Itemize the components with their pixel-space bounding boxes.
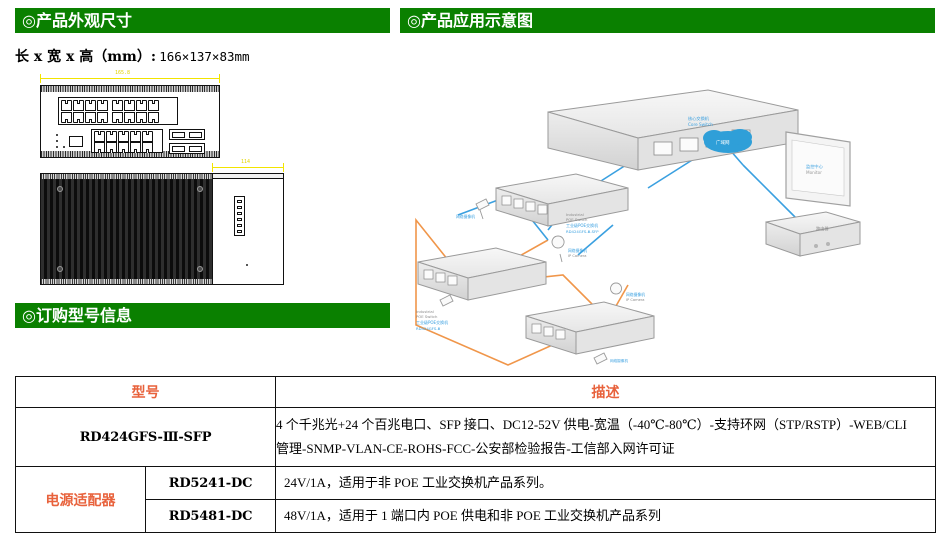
rj45-port	[85, 100, 96, 111]
status-led	[56, 146, 58, 148]
port-row-lower-bottom	[94, 142, 154, 153]
rj45-port	[73, 100, 84, 111]
poe-switch-1-label: 工业级POE交换机	[566, 222, 598, 228]
rj45-port	[112, 100, 123, 111]
cell-description-rd5241dc: 24V/1A，适用于非 POE 工业交换机产品系列。	[276, 467, 936, 500]
monitor-node: 监控中心 Monitor	[786, 132, 850, 206]
table-row: 电源适配器 RD5241-DC 24V/1A，适用于非 POE 工业交换机产品系…	[16, 467, 936, 500]
rj45-port	[136, 100, 147, 111]
dimension-label: 长 x 宽 x 高（mm）:	[15, 49, 156, 65]
status-led	[56, 134, 58, 136]
svg-text:IP Camera: IP Camera	[568, 254, 586, 258]
section-banner-application: ◎产品应用示意图	[400, 8, 935, 33]
rj45-port	[61, 100, 72, 111]
camera-node	[440, 295, 453, 306]
front-panel-top-rail	[41, 86, 219, 92]
dimension-value: 166×137×83mm	[159, 49, 249, 64]
svg-text:POE Switch: POE Switch	[566, 217, 588, 222]
svg-text:网络摄像机: 网络摄像机	[610, 358, 628, 363]
dimension-text-top: 165.8	[115, 70, 130, 76]
rj45-port	[130, 131, 141, 142]
svg-text:IP Camera: IP Camera	[626, 298, 644, 302]
rj45-port	[118, 142, 129, 153]
svg-text:网络摄像机: 网络摄像机	[568, 248, 587, 253]
sideview-marker-dot	[246, 264, 248, 266]
svg-text:Core Switch: Core Switch	[688, 122, 713, 127]
screw	[57, 266, 63, 272]
poe-switch-2-label: 工业级POE交换机	[416, 319, 448, 325]
sfp-cage-upper	[169, 129, 205, 140]
camera-node: 网络摄像机	[594, 353, 628, 364]
camera-node: 网络摄像机 IP Camera	[552, 236, 587, 262]
rj45-port	[142, 142, 153, 153]
description-line: 24V/1A，适用于非 POE 工业交换机产品系列。	[284, 471, 927, 495]
core-switch-label: 核心交换机	[688, 115, 710, 122]
port-row-upper-top	[61, 100, 160, 111]
rj45-port	[148, 112, 159, 123]
rj45-port	[94, 142, 105, 153]
product-drawings: 165.8	[15, 70, 375, 295]
sfp-cage-lower	[169, 143, 205, 154]
router-label: 路由器	[816, 225, 829, 232]
topview-bottom-edge	[41, 279, 219, 284]
rj45-port	[136, 112, 147, 123]
rj45-port	[106, 142, 117, 153]
port-row-upper-bottom	[61, 112, 160, 123]
switch-topview-drawing	[40, 173, 220, 285]
wan-cloud-node: 广域网	[703, 129, 752, 153]
cell-description-rd5481dc: 48V/1A，适用于 1 端口内 POE 供电和非 POE 工业交换机产品系列	[276, 500, 936, 533]
router-node: 路由器	[766, 212, 860, 256]
core-switch-node: 核心交换机 Core Switch	[548, 90, 798, 170]
column-header-model: 型号	[16, 377, 276, 408]
rj45-port	[118, 131, 129, 142]
rj45-port	[124, 100, 135, 111]
dimension-line: 长 x 宽 x 高（mm）: 166×137×83mm	[15, 46, 250, 66]
upper-port-block	[58, 97, 178, 125]
rj45-port	[112, 112, 123, 123]
svg-text:RD424GFS-Ⅲ: RD424GFS-Ⅲ	[416, 326, 441, 331]
status-led	[56, 140, 58, 142]
rj45-port	[130, 142, 141, 153]
cell-model-rd424gfs: RD424GFS-Ⅲ-SFP	[16, 408, 276, 467]
description-line: 管理-SNMP-VLAN-CE-ROHS-FCC-公安部检验报告-工信部入网许可…	[276, 437, 935, 461]
section-banner-dimensions: ◎产品外观尺寸	[15, 8, 390, 33]
rj45-port	[97, 112, 108, 123]
console-port	[69, 136, 83, 147]
cell-group-power-adapter: 电源适配器	[16, 467, 146, 533]
sideview-top-edge	[213, 174, 283, 179]
rj45-port	[97, 100, 108, 111]
column-header-description: 描述	[276, 377, 936, 408]
switch-front-panel-drawing	[40, 85, 220, 158]
cell-model-rd5481dc: RD5481-DC	[146, 500, 276, 533]
dimension-text-side: 114	[241, 159, 250, 165]
monitor-label: 监控中心	[806, 163, 824, 170]
lower-port-block	[91, 129, 163, 153]
svg-text:RD424GFS-Ⅲ-SFP: RD424GFS-Ⅲ-SFP	[566, 229, 599, 234]
rj45-port	[73, 112, 84, 123]
rj45-port	[142, 131, 153, 142]
application-topology-diagram: 核心交换机 Core Switch 广域网 监控中心 Monitor 路由器 I…	[398, 70, 946, 370]
table-row: RD5481-DC 48V/1A，适用于 1 端口内 POE 供电和非 POE …	[16, 500, 936, 533]
dimension-line-side	[212, 167, 284, 168]
dimension-tick-side-left	[212, 163, 213, 172]
rj45-port	[148, 100, 159, 111]
svg-text:网络摄像机: 网络摄像机	[626, 292, 645, 297]
rj45-port	[106, 131, 117, 142]
poe-switch-3-node	[526, 302, 654, 354]
section-banner-ordering: ◎订购型号信息	[15, 303, 390, 328]
port-row-lower-top	[94, 131, 154, 142]
camera-label: 网络摄像机	[456, 214, 475, 219]
topview-top-edge	[41, 174, 219, 179]
screw	[57, 186, 63, 192]
description-line: 4 个千兆光+24 个百兆电口、SFP 接口、DC12-52V 供电-宽温（-4…	[276, 413, 935, 437]
svg-text:POE Switch: POE Switch	[416, 314, 438, 319]
cell-model-rd5241dc: RD5241-DC	[146, 467, 276, 500]
poe-switch-1-node: Industrial POE Switch 工业级POE交换机 RD424GFS…	[496, 174, 628, 234]
table-row: RD424GFS-Ⅲ-SFP 4 个千兆光+24 个百兆电口、SFP 接口、DC…	[16, 408, 936, 467]
dimension-line-top	[40, 78, 220, 79]
terminal-block-connector	[234, 196, 245, 236]
screw	[197, 266, 203, 272]
svg-text:Monitor: Monitor	[806, 170, 822, 175]
switch-sideview-drawing	[212, 173, 284, 285]
rj45-port	[94, 131, 105, 142]
rj45-port	[85, 112, 96, 123]
ordering-information-table: 型号 描述 RD424GFS-Ⅲ-SFP 4 个千兆光+24 个百兆电口、SFP…	[15, 376, 936, 533]
cell-description-rd424gfs: 4 个千兆光+24 个百兆电口、SFP 接口、DC12-52V 供电-宽温（-4…	[276, 408, 936, 467]
status-led	[63, 146, 65, 148]
dimension-tick-right	[219, 74, 220, 83]
dimension-tick-left	[40, 74, 41, 83]
table-header-row: 型号 描述	[16, 377, 936, 408]
cloud-label: 广域网	[716, 139, 730, 146]
rj45-port	[61, 112, 72, 123]
dimension-tick-side-right	[283, 163, 284, 172]
rj45-port	[124, 112, 135, 123]
description-line: 48V/1A，适用于 1 端口内 POE 供电和非 POE 工业交换机产品系列	[284, 504, 927, 528]
screw	[197, 186, 203, 192]
